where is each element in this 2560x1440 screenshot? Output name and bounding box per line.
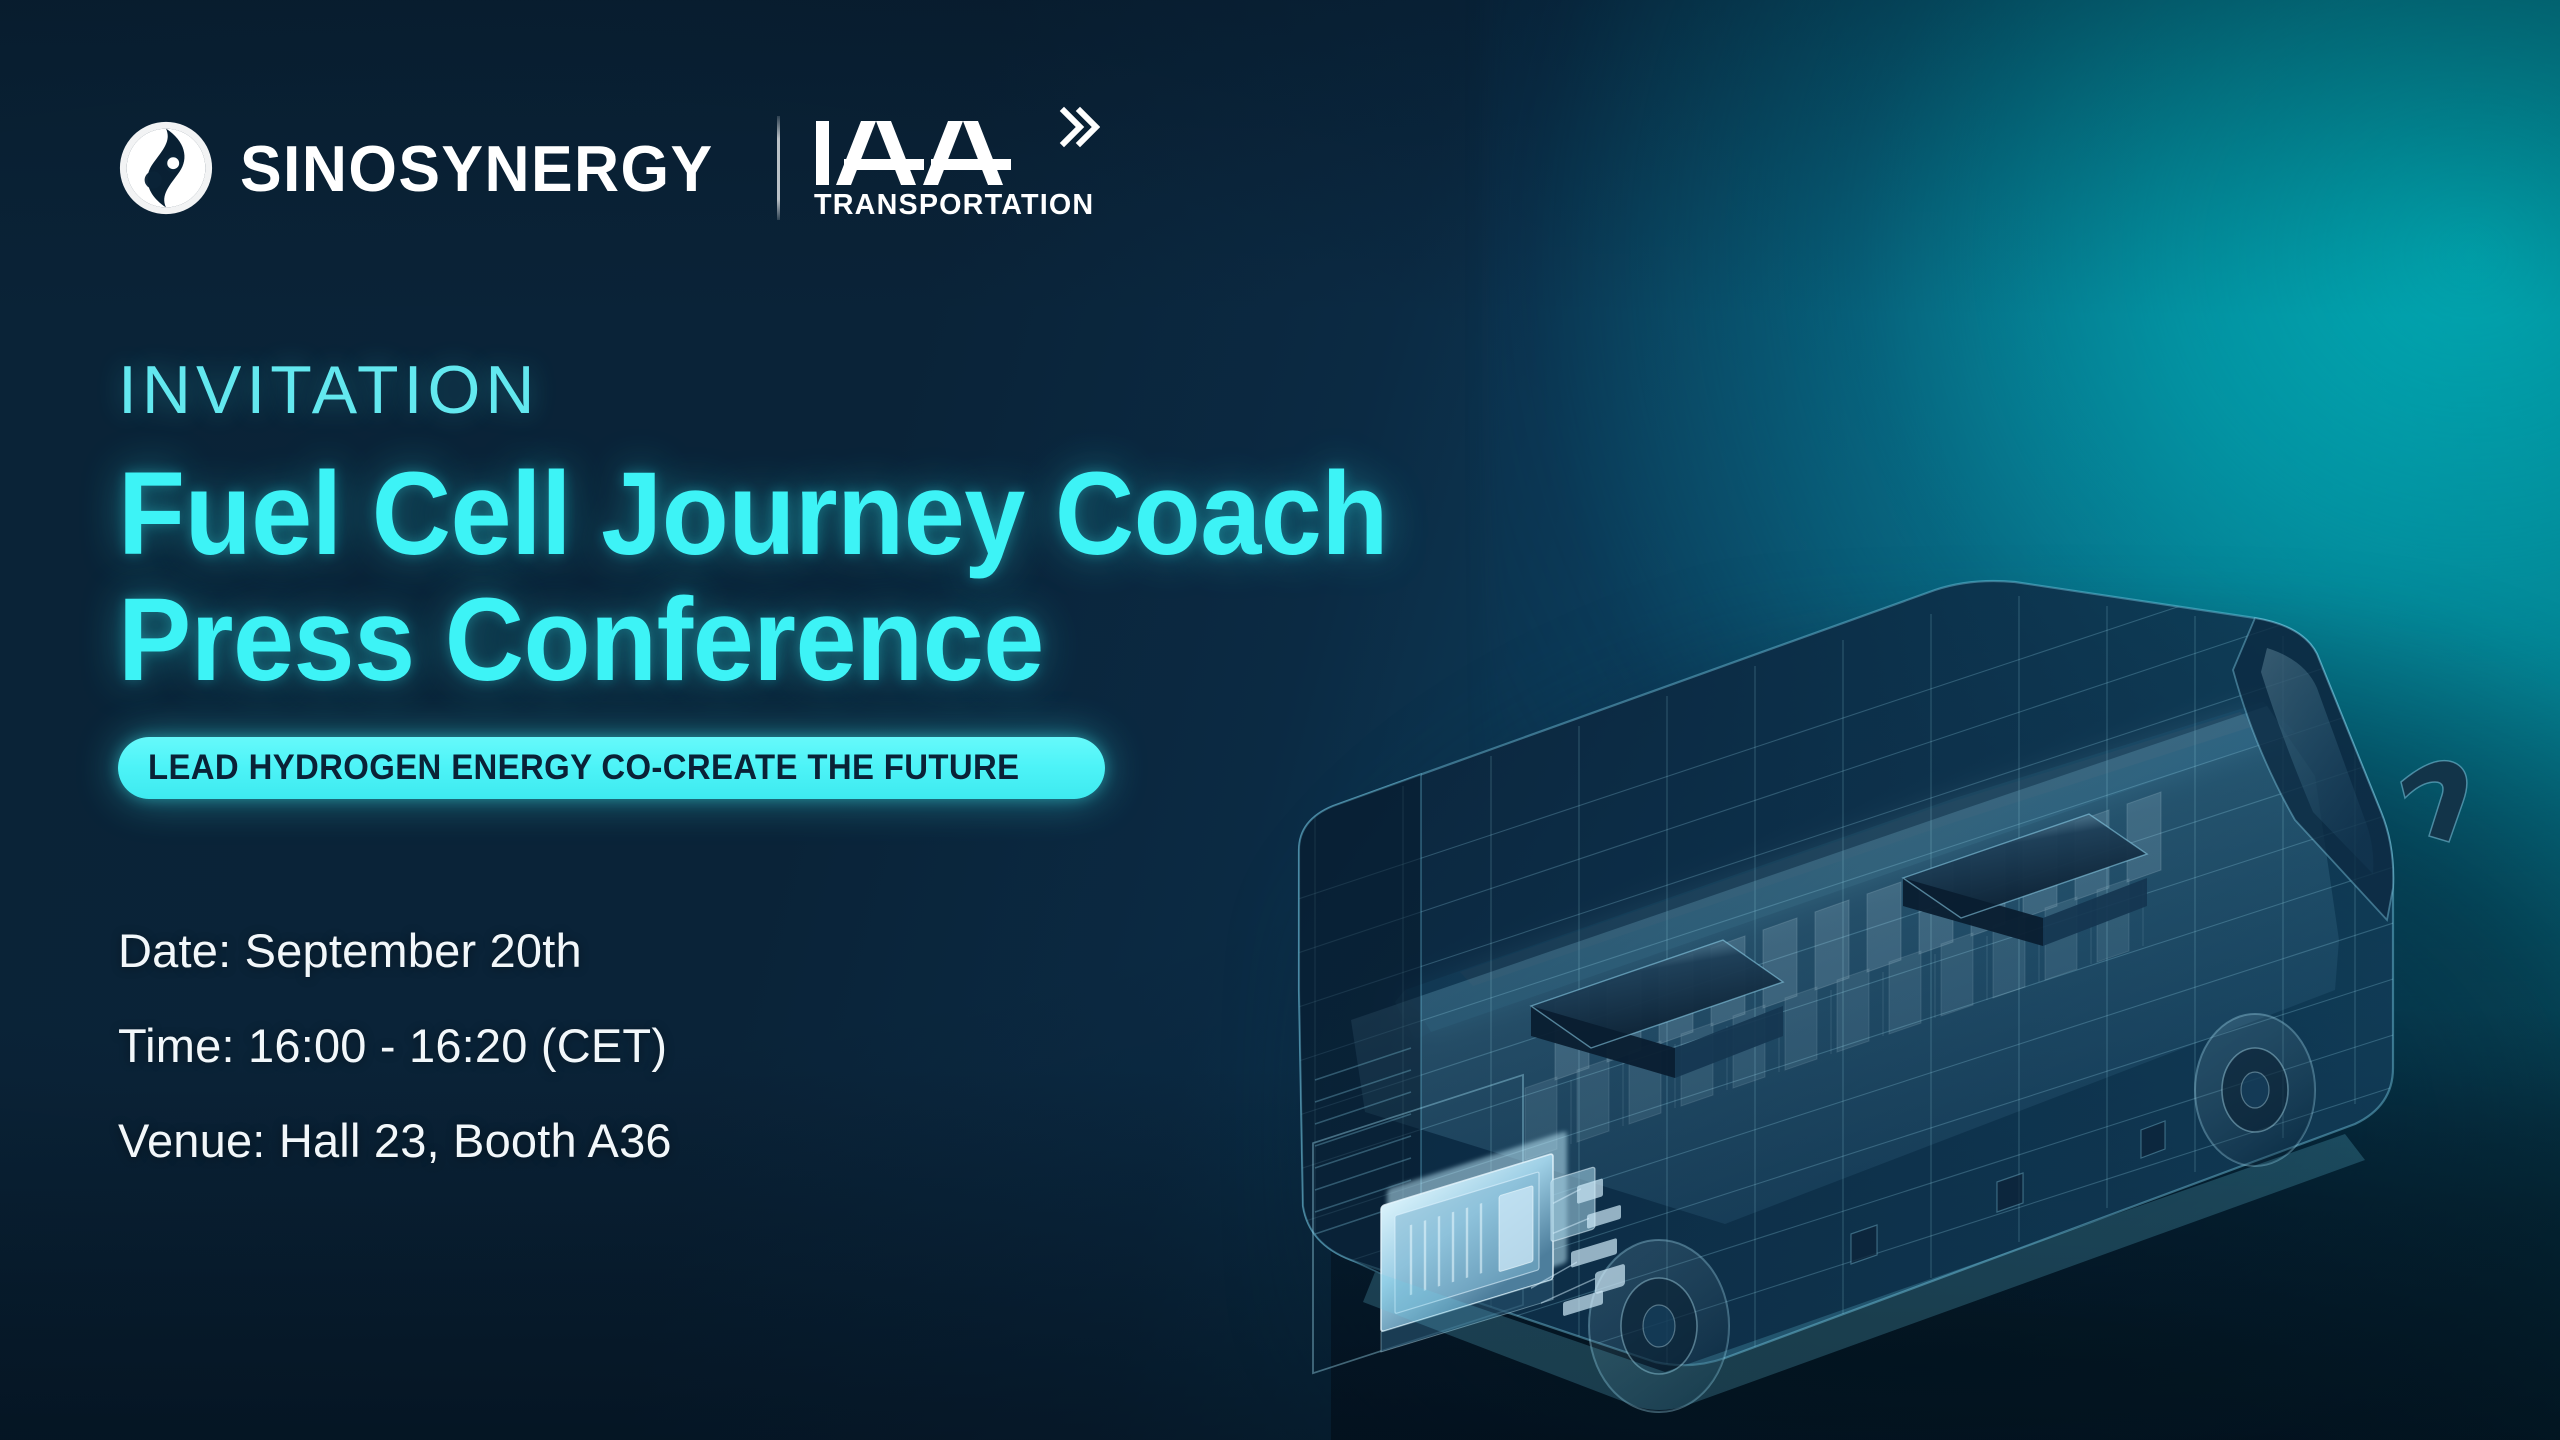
side-mirror <box>2401 761 2467 842</box>
slogan-badge: LEAD HYDROGEN ENERGY CO-CREATE THE FUTUR… <box>118 737 1105 799</box>
iaa-subtitle: TRANSPORTATION <box>814 191 1097 220</box>
invitation-poster: SINOSYNERGY <box>0 0 2560 1440</box>
headline-line-2: Press Conference <box>118 580 1346 700</box>
detail-date: Date: September 20th <box>118 927 1438 974</box>
eyebrow-invitation: INVITATION <box>118 356 1438 424</box>
detail-venue: Venue: Hall 23, Booth A36 <box>118 1117 1438 1164</box>
double-chevron-right-icon <box>1056 103 1100 151</box>
front-wheel <box>2195 1014 2315 1166</box>
slogan-text: LEAD HYDROGEN ENERGY CO-CREATE THE FUTUR… <box>148 750 1019 785</box>
sinosynergy-yinyang-s-icon <box>118 120 214 216</box>
fuel-cell-coach-illustration <box>1255 520 2560 1440</box>
iaa-partner-lockup: TRANSPORTATION <box>814 117 1100 220</box>
logo-divider <box>777 116 780 220</box>
detail-time: Time: 16:00 - 16:20 (CET) <box>118 1022 1438 1069</box>
invitation-copy-block: INVITATION Fuel Cell Journey Coach Press… <box>118 356 1438 1164</box>
brand-logo-bar: SINOSYNERGY <box>118 108 1100 228</box>
company-wordmark: SINOSYNERGY <box>240 136 714 201</box>
headline-line-1: Fuel Cell Journey Coach <box>118 454 1346 574</box>
event-details: Date: September 20th Time: 16:00 - 16:20… <box>118 927 1438 1164</box>
iaa-wordmark-icon <box>814 117 1032 189</box>
